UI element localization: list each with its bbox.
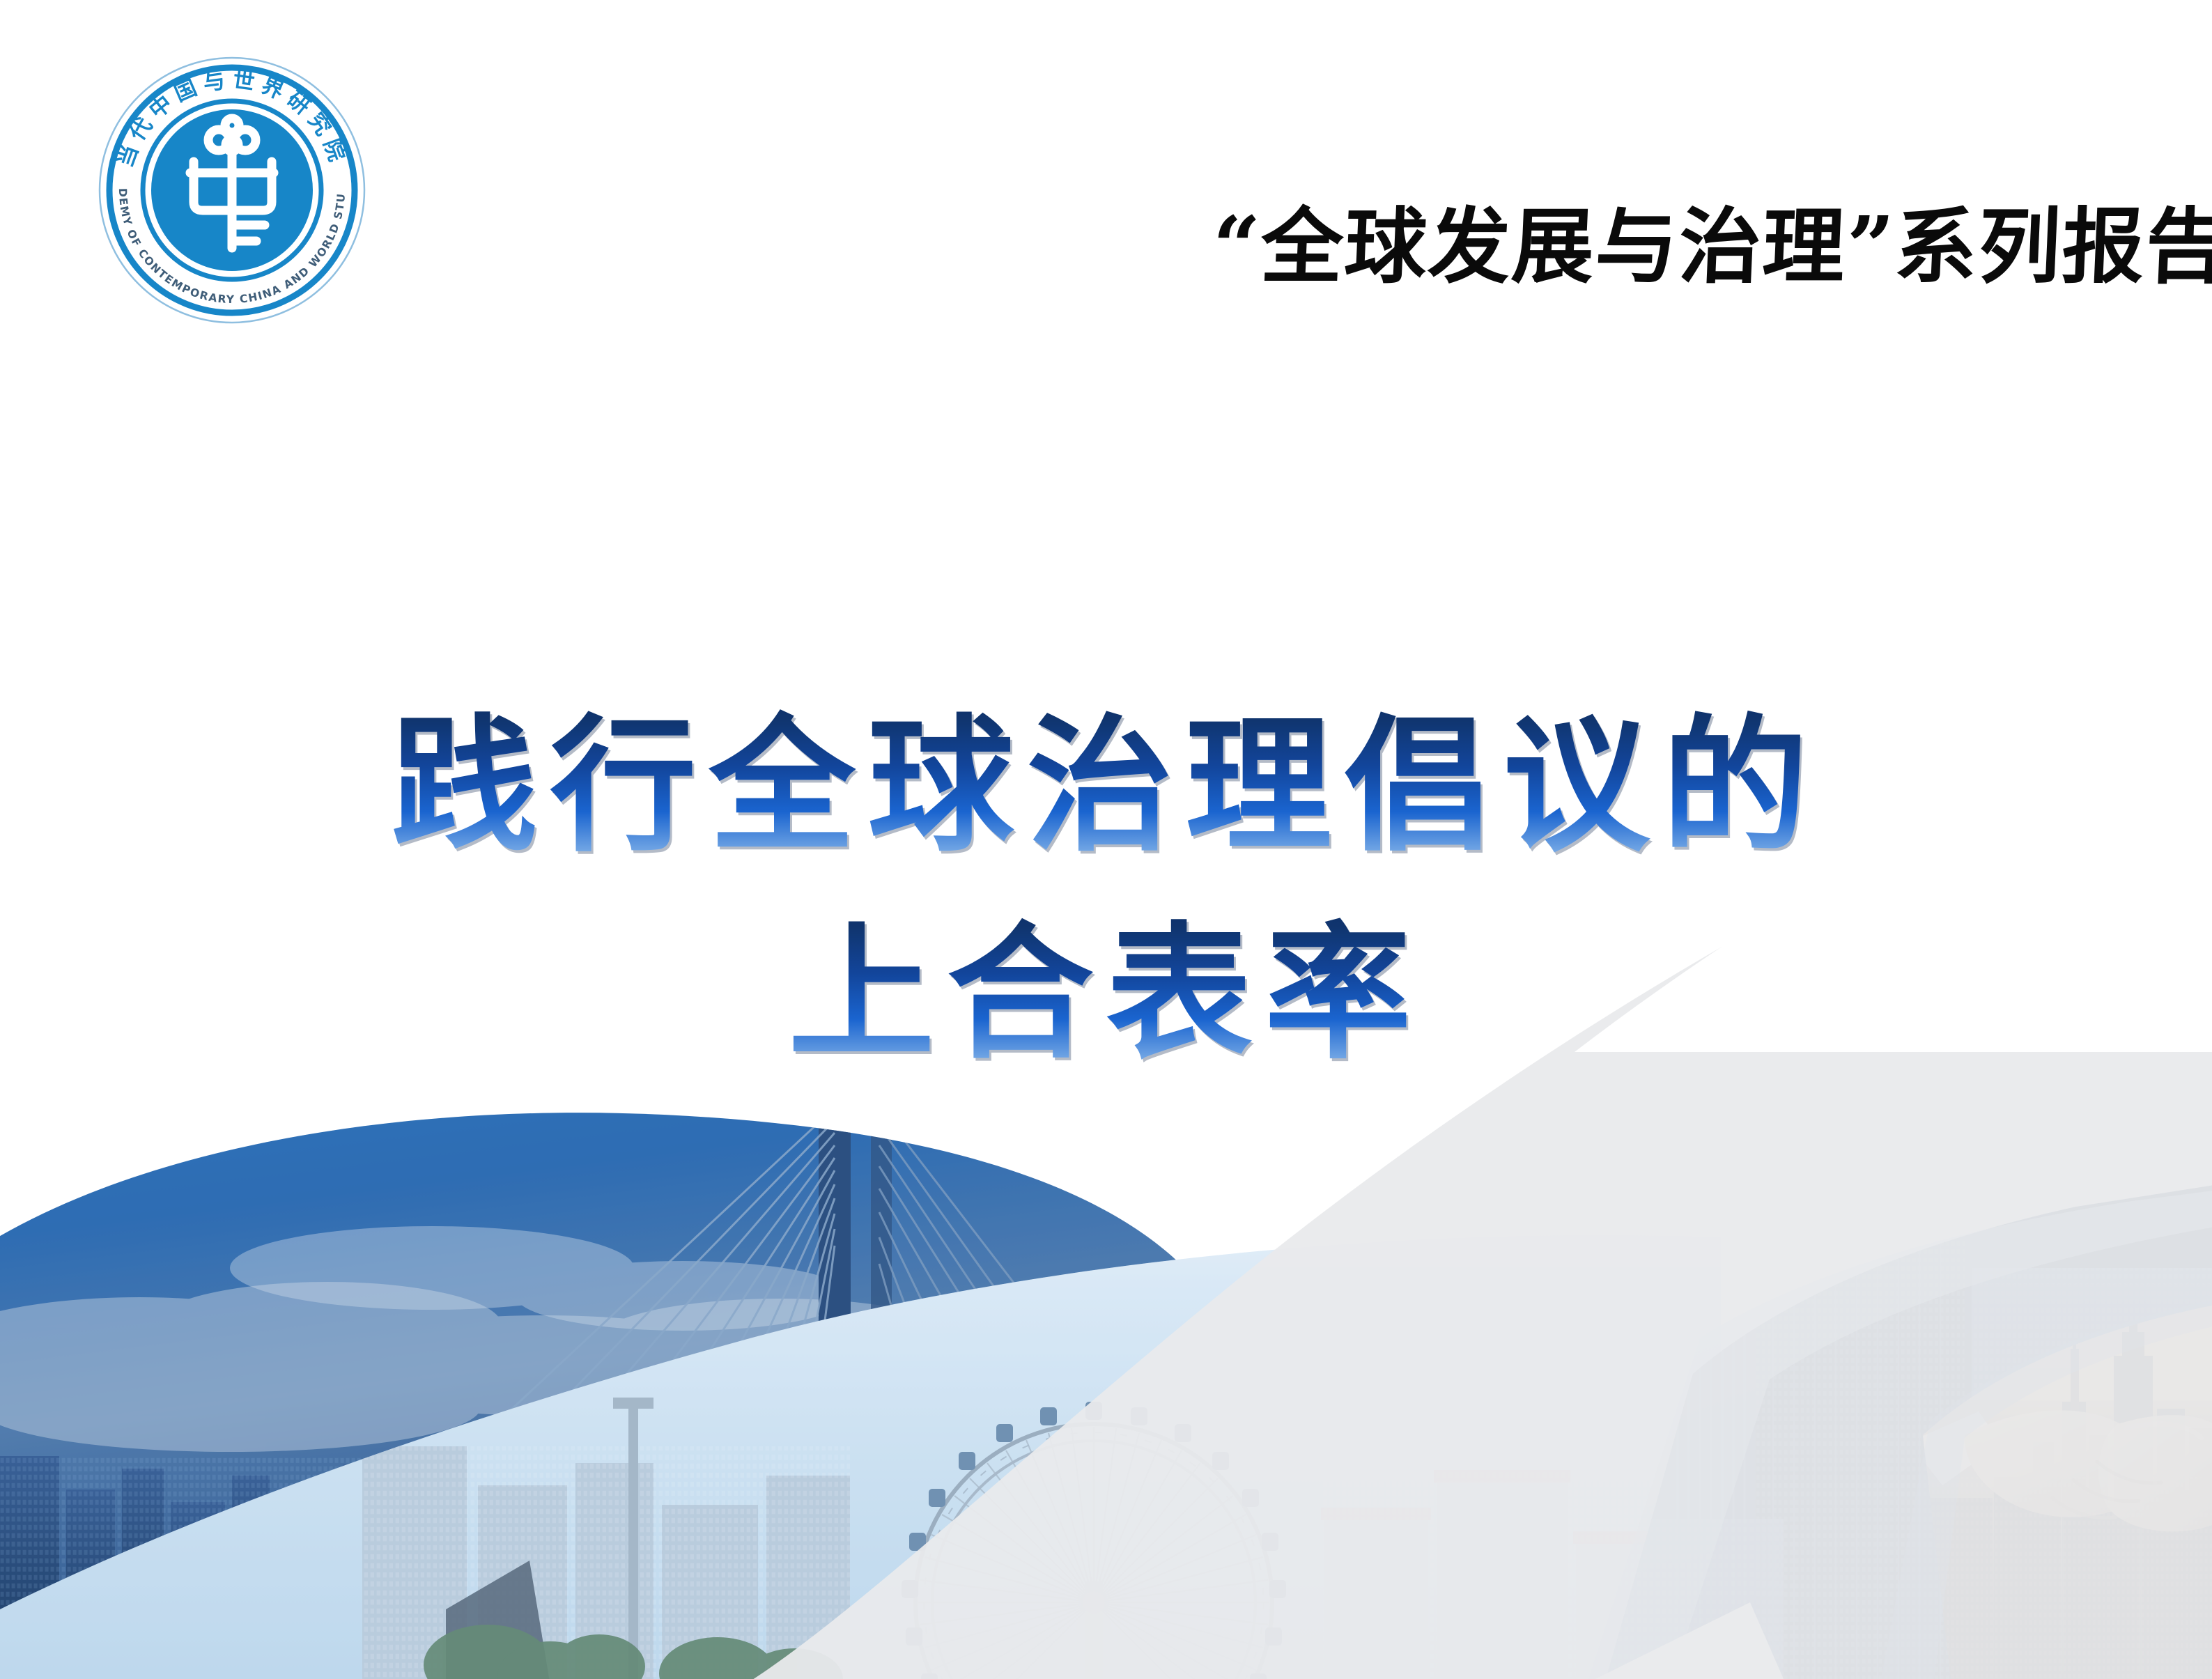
bottom-photo-collage <box>0 738 2212 1679</box>
academy-logo: 当代中国与世界研究院 ACADEMY OF CONTEMPORARY CHINA… <box>89 47 375 333</box>
slide-canvas: 当代中国与世界研究院 ACADEMY OF CONTEMPORARY CHINA… <box>0 0 2212 1679</box>
series-report-title: “全球发展与治理”系列报告 <box>1210 199 2148 294</box>
